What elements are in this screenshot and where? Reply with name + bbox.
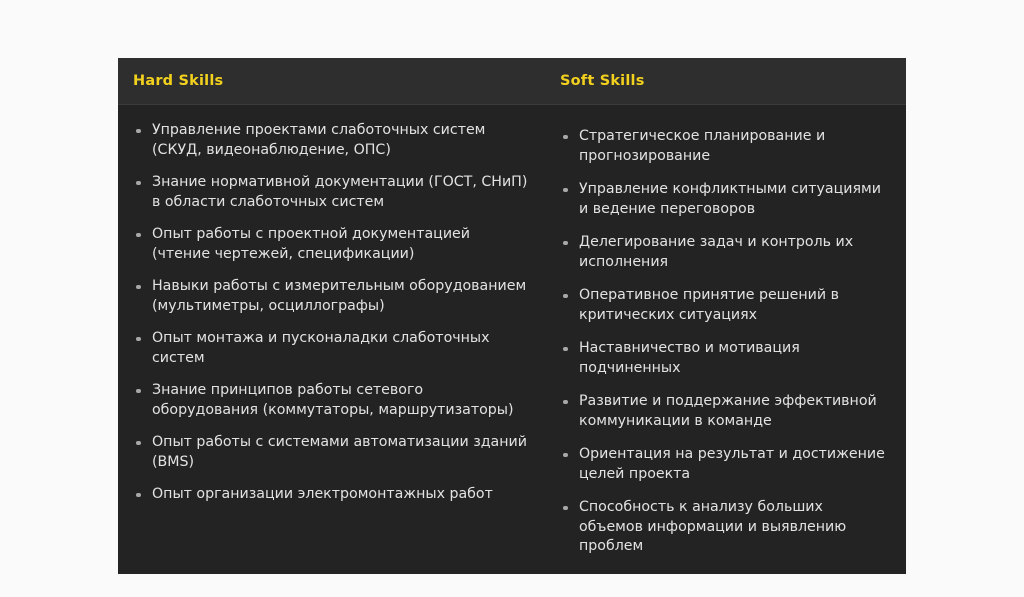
list-item-label: Делегирование задач и контроль их исполн… xyxy=(579,233,886,272)
bullet-icon xyxy=(563,400,568,405)
bullet-icon xyxy=(136,337,141,342)
header-cell-hard-skills: Hard Skills xyxy=(118,58,538,104)
skills-panel: Hard Skills Soft Skills Управление проек… xyxy=(118,58,906,574)
list-item: Наставничество и мотивация подчиненных xyxy=(560,339,886,378)
hard-skills-title: Hard Skills xyxy=(133,74,223,89)
list-item-label: Управление проектами слаботочных систем … xyxy=(152,121,530,160)
list-item-label: Оперативное принятие решений в критическ… xyxy=(579,286,886,325)
bullet-icon xyxy=(563,506,568,511)
skills-header-row: Hard Skills Soft Skills xyxy=(118,58,906,105)
soft-skills-list: Стратегическое планирование и прогнозиро… xyxy=(560,127,886,557)
list-item-label: Опыт организации электромонтажных работ xyxy=(152,485,530,505)
list-item: Оперативное принятие решений в критическ… xyxy=(560,286,886,325)
bullet-icon xyxy=(563,188,568,193)
list-item-label: Знание нормативной документации (ГОСТ, С… xyxy=(152,173,530,212)
list-item: Делегирование задач и контроль их исполн… xyxy=(560,233,886,272)
skills-body-row: Управление проектами слаботочных систем … xyxy=(118,105,906,574)
hard-skills-column: Управление проектами слаботочных систем … xyxy=(118,105,538,574)
list-item: Опыт работы с системами автоматизации зд… xyxy=(133,433,530,472)
hard-skills-list: Управление проектами слаботочных систем … xyxy=(133,121,530,505)
list-item-label: Знание принципов работы сетевого оборудо… xyxy=(152,381,530,420)
list-item-label: Управление конфликтными ситуациями и вед… xyxy=(579,180,886,219)
list-item: Стратегическое планирование и прогнозиро… xyxy=(560,127,886,166)
list-item-label: Наставничество и мотивация подчиненных xyxy=(579,339,886,378)
bullet-icon xyxy=(563,241,568,246)
list-item-label: Опыт работы с системами автоматизации зд… xyxy=(152,433,530,472)
bullet-icon xyxy=(136,389,141,394)
bullet-icon xyxy=(563,294,568,299)
list-item: Ориентация на результат и достижение цел… xyxy=(560,445,886,484)
soft-skills-title: Soft Skills xyxy=(560,74,645,89)
bullet-icon xyxy=(136,181,141,186)
bullet-icon xyxy=(136,233,141,238)
list-item: Способность к анализу больших объемов ин… xyxy=(560,498,886,557)
bullet-icon xyxy=(136,493,141,498)
bullet-icon xyxy=(136,129,141,134)
list-item-label: Развитие и поддержание эффективной комму… xyxy=(579,392,886,431)
list-item: Управление проектами слаботочных систем … xyxy=(133,121,530,160)
list-item: Развитие и поддержание эффективной комму… xyxy=(560,392,886,431)
list-item: Опыт монтажа и пусконаладки слаботочных … xyxy=(133,329,530,368)
list-item: Знание принципов работы сетевого оборудо… xyxy=(133,381,530,420)
list-item-label: Способность к анализу больших объемов ин… xyxy=(579,498,886,557)
list-item: Опыт организации электромонтажных работ xyxy=(133,485,530,505)
header-cell-soft-skills: Soft Skills xyxy=(538,58,906,104)
list-item: Навыки работы с измерительным оборудован… xyxy=(133,277,530,316)
list-item: Опыт работы с проектной документацией (ч… xyxy=(133,225,530,264)
list-item-label: Опыт монтажа и пусконаладки слаботочных … xyxy=(152,329,530,368)
list-item-label: Ориентация на результат и достижение цел… xyxy=(579,445,886,484)
list-item: Управление конфликтными ситуациями и вед… xyxy=(560,180,886,219)
list-item: Знание нормативной документации (ГОСТ, С… xyxy=(133,173,530,212)
bullet-icon xyxy=(136,285,141,290)
list-item-label: Опыт работы с проектной документацией (ч… xyxy=(152,225,530,264)
soft-skills-column: Стратегическое планирование и прогнозиро… xyxy=(538,105,906,574)
bullet-icon xyxy=(563,453,568,458)
bullet-icon xyxy=(136,441,141,446)
bullet-icon xyxy=(563,135,568,140)
list-item-label: Стратегическое планирование и прогнозиро… xyxy=(579,127,886,166)
list-item-label: Навыки работы с измерительным оборудован… xyxy=(152,277,530,316)
bullet-icon xyxy=(563,347,568,352)
